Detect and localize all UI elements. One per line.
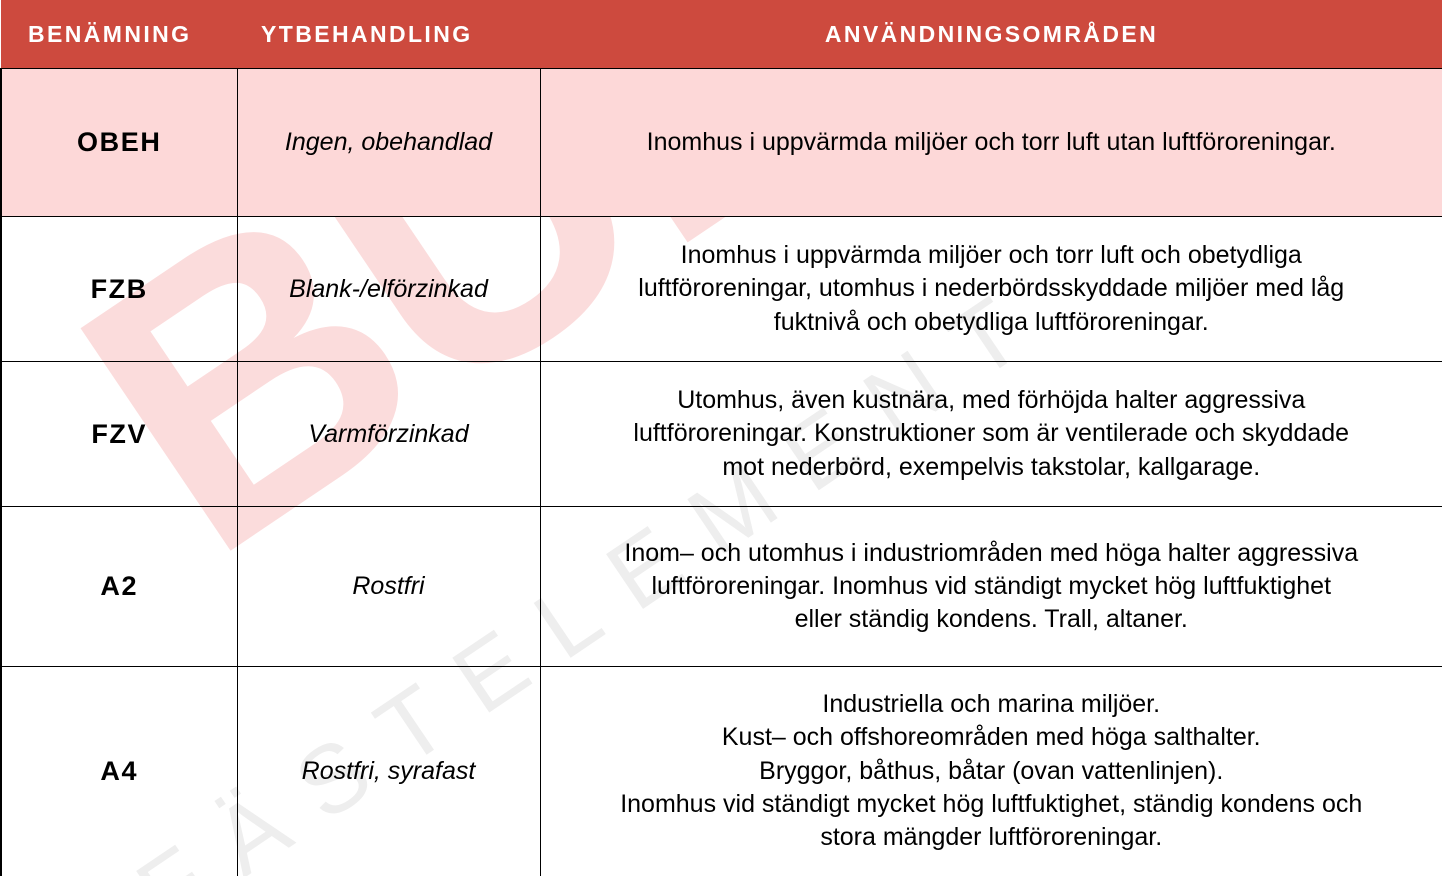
- cell-treatment: Blank-/elförzinkad: [237, 217, 540, 362]
- cell-designation: FZV: [1, 362, 237, 507]
- table-container: BENÄMNING YTBEHANDLING ANVÄNDNINGSOMRÅDE…: [0, 0, 1442, 876]
- column-header-designation: BENÄMNING: [1, 0, 237, 69]
- cell-uses-line: Utomhus, även kustnära, med förhöjda hal…: [549, 384, 1435, 417]
- cell-uses-line: mot nederbörd, exempelvis takstolar, kal…: [549, 451, 1435, 484]
- cell-uses-line: eller ständig kondens. Trall, altaner.: [549, 603, 1435, 636]
- cell-uses: Inom– och utomhus i industriområden med …: [540, 507, 1442, 667]
- cell-uses-line: luftföroreningar, utomhus i nederbördssk…: [549, 272, 1435, 305]
- cell-treatment: Ingen, obehandlad: [237, 69, 540, 217]
- cell-uses-line: Inomhus i uppvärmda miljöer och torr luf…: [549, 126, 1435, 159]
- cell-uses: Inomhus i uppvärmda miljöer och torr luf…: [540, 69, 1442, 217]
- column-header-treatment: YTBEHANDLING: [237, 0, 540, 69]
- cell-uses-line: luftföroreningar. Konstruktioner som är …: [549, 417, 1435, 450]
- cell-designation: A2: [1, 507, 237, 667]
- cell-treatment: Rostfri: [237, 507, 540, 667]
- cell-uses-line: Inomhus vid ständigt mycket hög luftfukt…: [549, 788, 1435, 821]
- surface-treatment-table-page: BULTEN FÄSTELEMENT BENÄMNING YTBEHANDLIN…: [0, 0, 1442, 876]
- cell-uses-line: Industriella och marina miljöer.: [549, 688, 1435, 721]
- table-header: BENÄMNING YTBEHANDLING ANVÄNDNINGSOMRÅDE…: [1, 0, 1442, 69]
- cell-treatment: Rostfri, syrafast: [237, 667, 540, 876]
- cell-uses-line: Kust– och offshoreområden med höga salth…: [549, 721, 1435, 754]
- column-header-uses: ANVÄNDNINGSOMRÅDEN: [540, 0, 1442, 69]
- table-body: OBEH Ingen, obehandlad Inomhus i uppvärm…: [1, 69, 1442, 876]
- cell-uses: Utomhus, även kustnära, med förhöjda hal…: [540, 362, 1442, 507]
- table-row: FZV Varmförzinkad Utomhus, även kustnära…: [1, 362, 1442, 507]
- cell-uses-line: luftföroreningar. Inomhus vid ständigt m…: [549, 570, 1435, 603]
- cell-treatment: Varmförzinkad: [237, 362, 540, 507]
- surface-treatment-table: BENÄMNING YTBEHANDLING ANVÄNDNINGSOMRÅDE…: [0, 0, 1442, 876]
- cell-uses-line: Bryggor, båthus, båtar (ovan vattenlinje…: [549, 755, 1435, 788]
- cell-uses-line: Inomhus i uppvärmda miljöer och torr luf…: [549, 239, 1435, 272]
- cell-uses: Industriella och marina miljöer. Kust– o…: [540, 667, 1442, 876]
- cell-uses-line: fuktnivå och obetydliga luftföroreningar…: [549, 306, 1435, 339]
- cell-uses-line: Inom– och utomhus i industriområden med …: [549, 537, 1435, 570]
- table-row: A4 Rostfri, syrafast Industriella och ma…: [1, 667, 1442, 876]
- table-row: A2 Rostfri Inom– och utomhus i industrio…: [1, 507, 1442, 667]
- table-header-row: BENÄMNING YTBEHANDLING ANVÄNDNINGSOMRÅDE…: [1, 0, 1442, 69]
- table-row: OBEH Ingen, obehandlad Inomhus i uppvärm…: [1, 69, 1442, 217]
- cell-uses: Inomhus i uppvärmda miljöer och torr luf…: [540, 217, 1442, 362]
- cell-uses-line: stora mängder luftföroreningar.: [549, 821, 1435, 854]
- cell-designation: FZB: [1, 217, 237, 362]
- cell-designation: A4: [1, 667, 237, 876]
- cell-designation: OBEH: [1, 69, 237, 217]
- table-row: FZB Blank-/elförzinkad Inomhus i uppvärm…: [1, 217, 1442, 362]
